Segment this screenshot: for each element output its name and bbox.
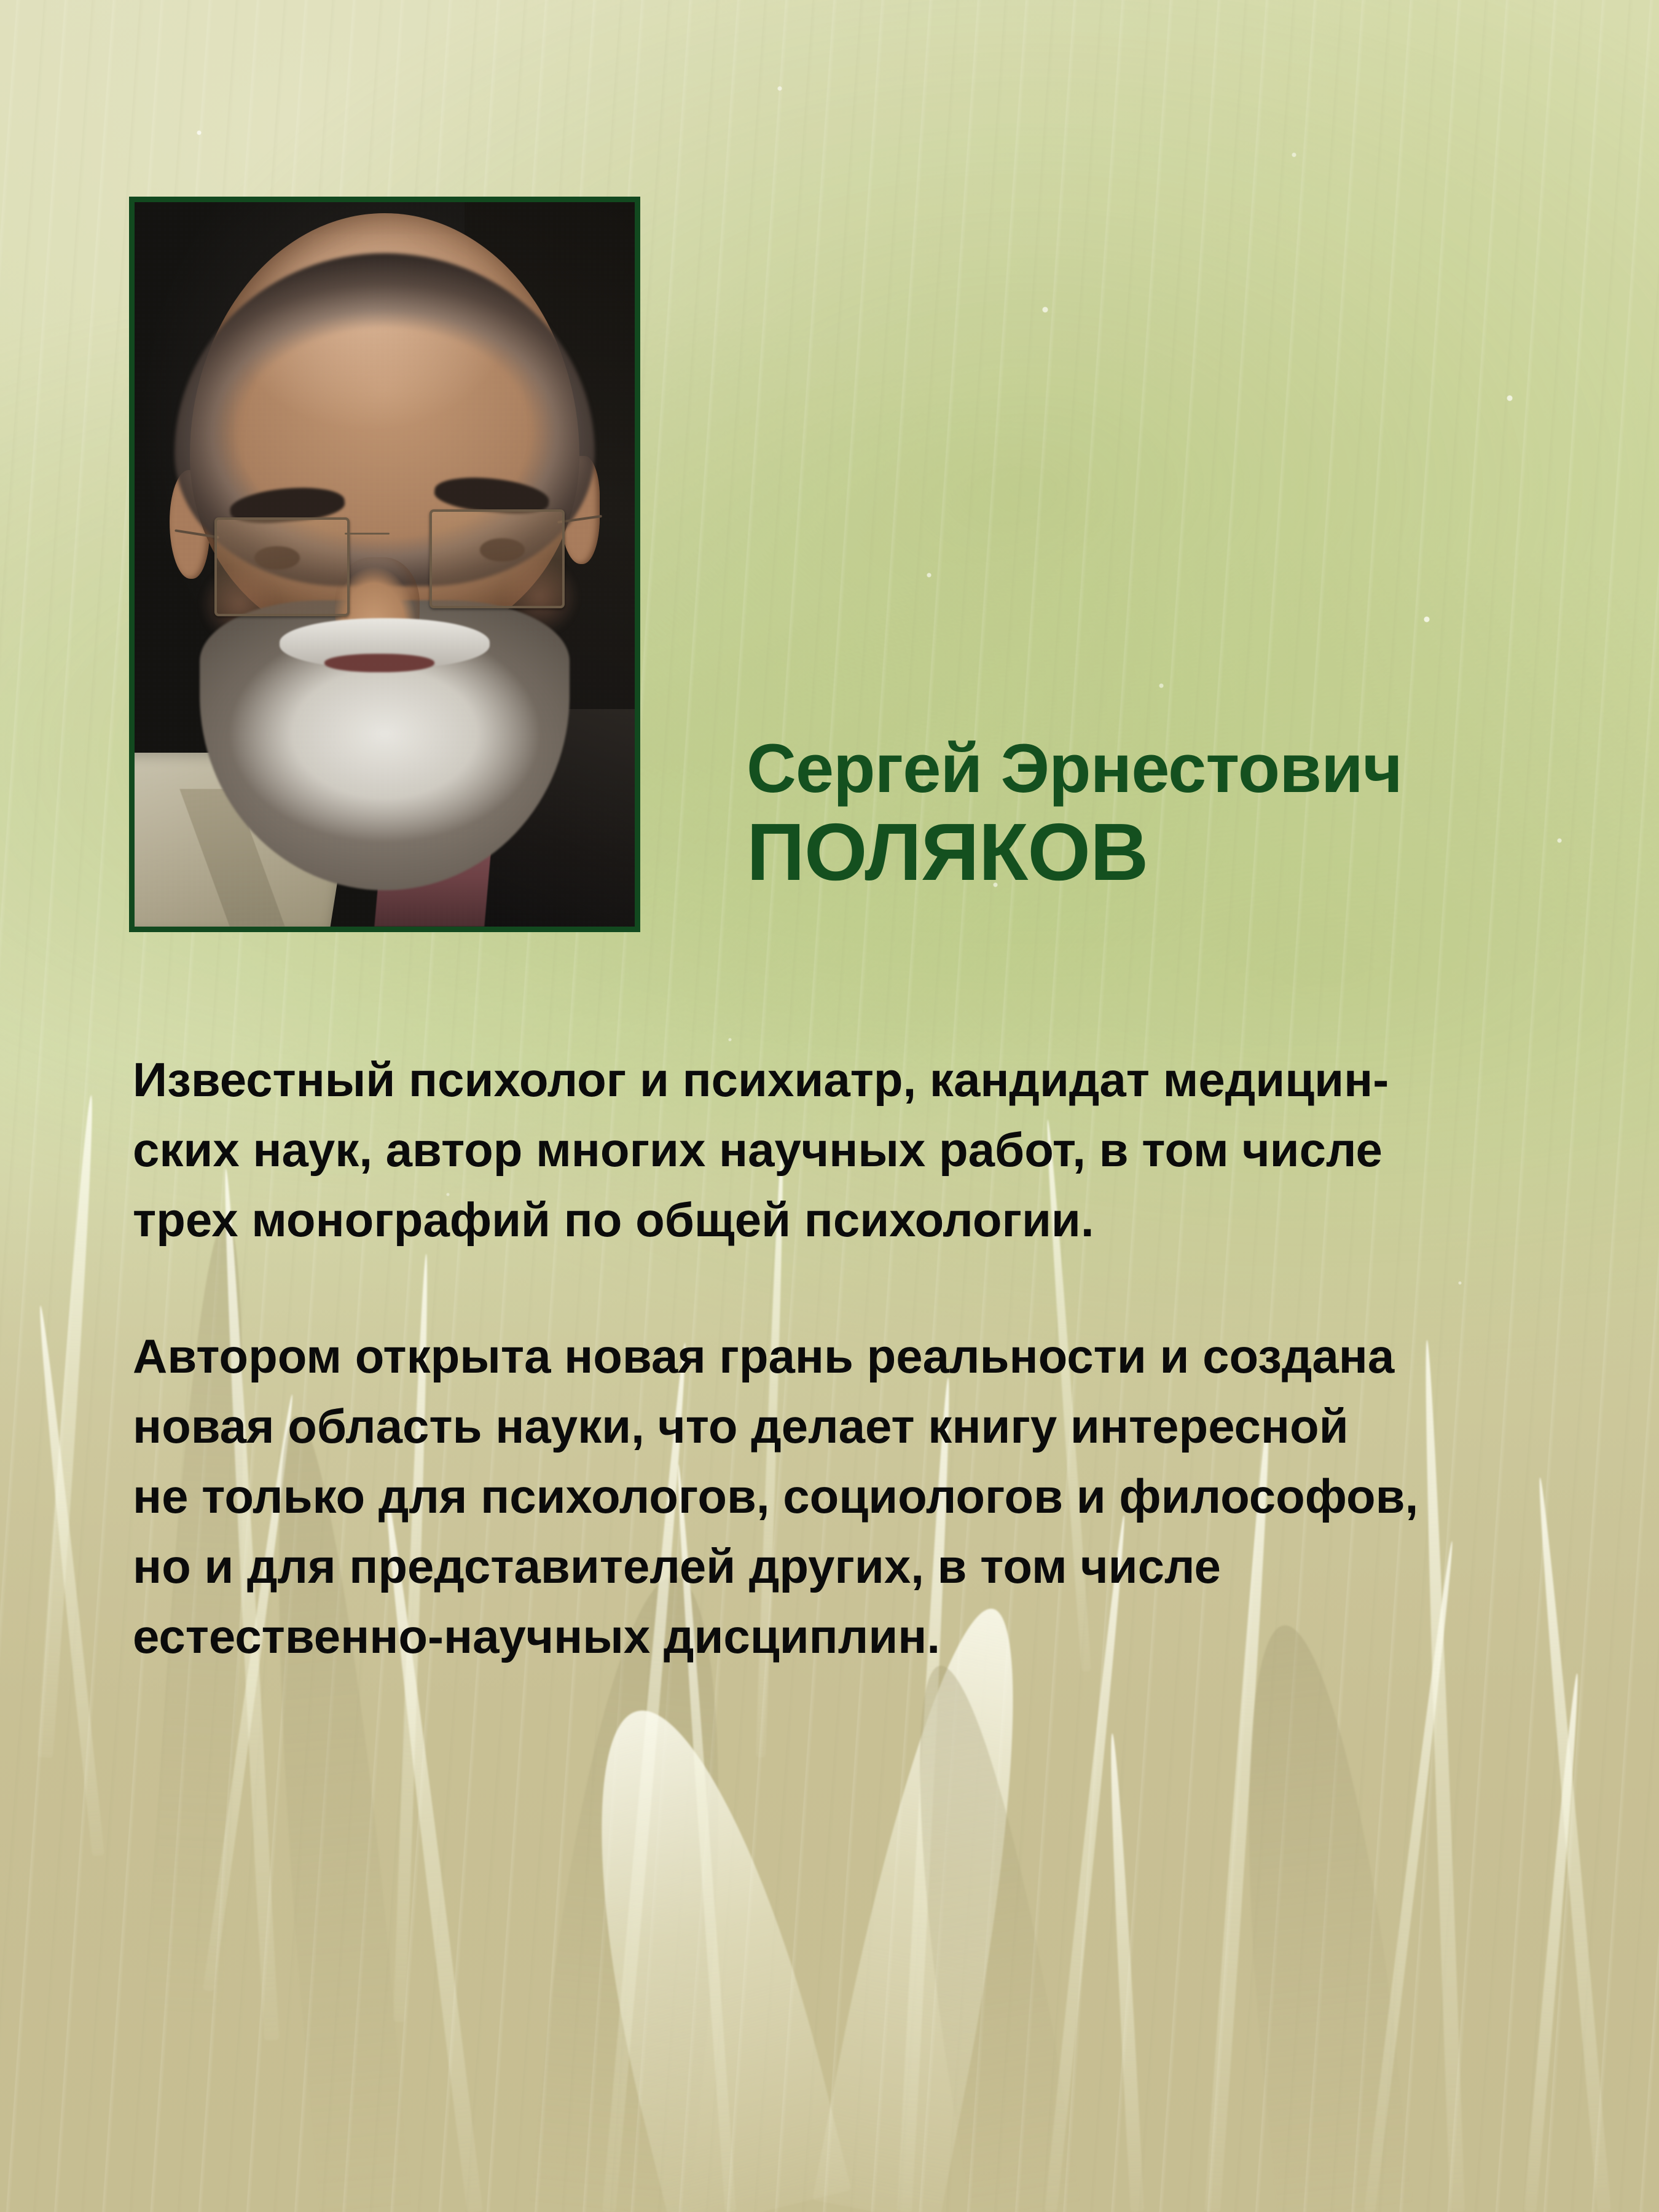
bio-line: не только для психологов, социологов и ф… — [133, 1461, 1564, 1531]
photo-grain-overlay — [135, 202, 635, 927]
bio-line: Автором открыта новая грань реальности и… — [133, 1321, 1564, 1391]
bio-paragraph-1: Известный психолог и психиатр, кандидат … — [133, 1045, 1564, 1255]
bio-line: трех монографий по общей психологии. — [133, 1185, 1564, 1255]
author-surname: ПОЛЯКОВ — [747, 812, 1545, 893]
author-biography: Известный психолог и психиатр, кандидат … — [133, 1045, 1564, 1671]
author-name-block: Сергей Эрнестович ПОЛЯКОВ — [747, 734, 1545, 893]
portrait-photo — [129, 197, 640, 932]
author-first-patronymic: Сергей Эрнестович — [747, 734, 1545, 803]
bio-line: Известный психолог и психиатр, кандидат … — [133, 1045, 1564, 1115]
book-back-cover-page: Сергей Эрнестович ПОЛЯКОВ Известный псих… — [0, 0, 1659, 2212]
bio-line: новая область науки, что делает книгу ин… — [133, 1391, 1564, 1461]
bio-line: ских наук, автор многих научных работ, в… — [133, 1115, 1564, 1185]
bio-line: естественно-научных дисциплин. — [133, 1601, 1564, 1671]
bio-line: но и для представителей других, в том чи… — [133, 1531, 1564, 1601]
bio-paragraph-2: Автором открыта новая грань реальности и… — [133, 1321, 1564, 1671]
